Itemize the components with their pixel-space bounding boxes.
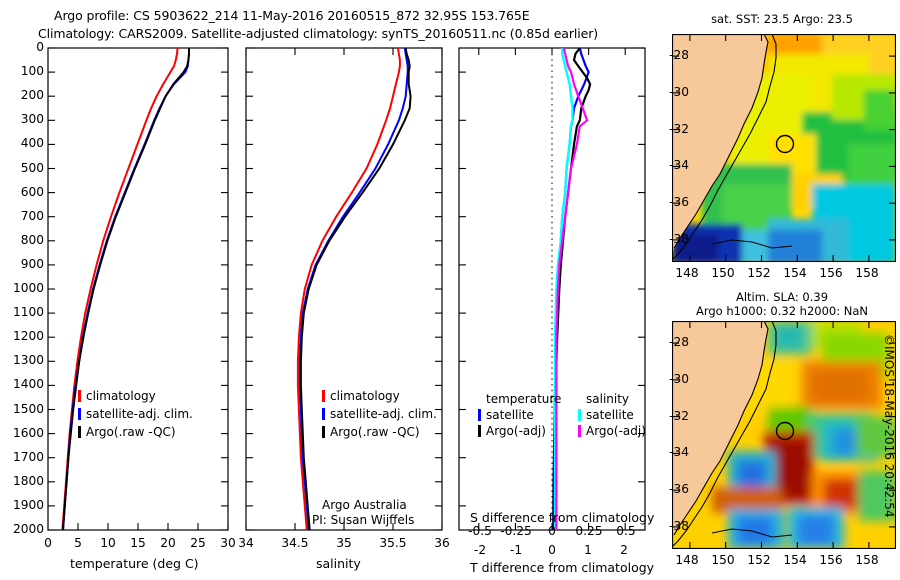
salinity-plot-frame <box>246 48 442 530</box>
depth-tick-800: 800 <box>8 233 44 247</box>
temperature-axis-label: temperature (deg C) <box>70 556 199 571</box>
legend-swatch-satellite-sal <box>322 408 325 420</box>
sla-ytick--36: -36 <box>659 482 689 496</box>
temp-xtick-5: 5 <box>72 536 84 550</box>
depth-tick-1000: 1000 <box>0 281 44 295</box>
sst-xtick-154: 154 <box>780 266 810 280</box>
sst-map-title: sat. SST: 23.5 Argo: 23.5 <box>668 12 896 26</box>
diff-s-xtick--0.25: -0.25 <box>494 524 538 538</box>
legend-label-climatology: climatology <box>86 389 156 403</box>
sst-xtick-148: 148 <box>672 266 702 280</box>
legend-item-climatology: climatology <box>78 389 193 403</box>
sal-xtick-36: 36 <box>430 536 454 550</box>
legend-label-t-satellite: satellite <box>486 408 534 422</box>
map-sla <box>672 321 896 549</box>
temp-xtick-10: 10 <box>98 536 118 550</box>
legend-item-argo: Argo(.raw -QC) <box>78 425 193 439</box>
temperature-plot-frame <box>48 48 228 530</box>
sst-ytick--32: -32 <box>659 122 689 136</box>
diff-s-xtick-0.5: 0.5 <box>608 524 644 538</box>
sal-xtick-35.5: 35.5 <box>374 536 412 550</box>
legend-item-s-argo: Argo(-adj) <box>578 424 646 438</box>
argo-pi-credit: PI: Susan Wijffels <box>312 513 414 527</box>
legend-label-argo: Argo(.raw -QC) <box>86 425 176 439</box>
sla-ytick--34: -34 <box>659 445 689 459</box>
sla-xtick-152: 152 <box>744 553 774 567</box>
legend-label-climatology-sal: climatology <box>330 389 400 403</box>
legend-item-t-satellite: satellite <box>478 408 561 422</box>
sla-ytick--38: -38 <box>659 519 689 533</box>
depth-tick-300: 300 <box>8 112 44 126</box>
depth-tick-200: 200 <box>8 88 44 102</box>
diff-t-xtick--1: -1 <box>506 543 526 557</box>
sst-ytick--28: -28 <box>659 48 689 62</box>
temp-xtick-15: 15 <box>128 536 148 550</box>
depth-tick-2000: 2000 <box>0 522 44 536</box>
depth-tick-1500: 1500 <box>0 402 44 416</box>
sla-ytick--30: -30 <box>659 372 689 386</box>
temp-xtick-0: 0 <box>42 536 54 550</box>
depth-tick-1300: 1300 <box>0 353 44 367</box>
sla-xtick-158: 158 <box>852 553 882 567</box>
legend-swatch-climatology-sal <box>322 390 325 402</box>
depth-tick-600: 600 <box>8 185 44 199</box>
diff-s-xtick-0.25: 0.25 <box>567 524 611 538</box>
diff-s-xtick-0: 0 <box>544 524 560 538</box>
sla-xtick-150: 150 <box>708 553 738 567</box>
legend-swatch-argo <box>78 426 81 438</box>
legend-item-satellite: satellite-adj. clim. <box>78 407 193 421</box>
diff-s-xtick--0.5: -0.5 <box>462 524 498 538</box>
sla-map-title-line2: Argo h1000: 0.32 h2000: NaN <box>668 304 896 318</box>
depth-tick-100: 100 <box>8 64 44 78</box>
legend-label-s-argo: Argo(-adj) <box>586 424 646 438</box>
legend-label-argo-sal: Argo(.raw -QC) <box>330 425 420 439</box>
depth-tick-500: 500 <box>8 161 44 175</box>
sla-ytick--32: -32 <box>659 409 689 423</box>
legend-header-temperature: temperature <box>486 392 561 406</box>
sla-xtick-156: 156 <box>816 553 846 567</box>
legend-swatch-s-argo <box>578 425 581 437</box>
temp-xtick-25: 25 <box>188 536 208 550</box>
figure-title-line2: Climatology: CARS2009. Satellite-adjuste… <box>38 26 598 41</box>
sal-xtick-34.5: 34.5 <box>276 536 314 550</box>
depth-tick-1200: 1200 <box>0 329 44 343</box>
depth-tick-1700: 1700 <box>0 450 44 464</box>
sst-xtick-156: 156 <box>816 266 846 280</box>
sst-xtick-150: 150 <box>708 266 738 280</box>
sst-ytick--36: -36 <box>659 195 689 209</box>
depth-tick-1100: 1100 <box>0 305 44 319</box>
legend-swatch-s-satellite <box>578 409 581 421</box>
diff-t-xtick-2: 2 <box>616 543 632 557</box>
diff-t-xtick--2: -2 <box>470 543 490 557</box>
diff-t-xtick-1: 1 <box>580 543 596 557</box>
depth-tick-1900: 1900 <box>0 498 44 512</box>
temperature-legend: climatology satellite-adj. clim. Argo(.r… <box>78 389 193 439</box>
sal-xtick-35: 35 <box>332 536 356 550</box>
sst-ytick--38: -38 <box>659 232 689 246</box>
salinity-axis-label: salinity <box>316 556 361 571</box>
sst-xtick-158: 158 <box>852 266 882 280</box>
depth-tick-900: 900 <box>8 257 44 271</box>
legend-swatch-t-satellite <box>478 409 481 421</box>
difference-temperature-axis-label: T difference from climatology <box>470 560 654 575</box>
panel-salinity <box>242 40 452 540</box>
salinity-legend: climatology satellite-adj. clim. Argo(.r… <box>322 389 437 439</box>
imos-copyright: ©IMOS 18-May-2016 20:42:54 <box>882 334 896 518</box>
difference-legend-salinity: salinity satellite Argo(-adj) <box>578 392 646 438</box>
depth-tick-1400: 1400 <box>0 377 44 391</box>
legend-item-satellite-sal: satellite-adj. clim. <box>322 407 437 421</box>
legend-swatch-climatology <box>78 390 81 402</box>
depth-tick-0: 0 <box>16 40 44 54</box>
sst-xtick-152: 152 <box>744 266 774 280</box>
difference-salinity-axis-label: S difference from climatology <box>470 510 654 525</box>
legend-label-satellite: satellite-adj. clim. <box>86 407 193 421</box>
legend-item-s-satellite: satellite <box>578 408 646 422</box>
legend-header-salinity: salinity <box>586 392 646 406</box>
sal-xtick-34: 34 <box>234 536 258 550</box>
depth-tick-1800: 1800 <box>0 474 44 488</box>
sla-xtick-154: 154 <box>780 553 810 567</box>
legend-swatch-t-argo <box>478 425 481 437</box>
legend-item-climatology-sal: climatology <box>322 389 437 403</box>
temp-xtick-20: 20 <box>158 536 178 550</box>
legend-item-argo-sal: Argo(.raw -QC) <box>322 425 437 439</box>
depth-tick-1600: 1600 <box>0 426 44 440</box>
legend-label-t-argo: Argo(-adj) <box>486 424 546 438</box>
sst-ytick--34: -34 <box>659 158 689 172</box>
sst-ytick--30: -30 <box>659 85 689 99</box>
legend-swatch-satellite <box>78 408 81 420</box>
map-sst <box>672 34 896 262</box>
panel-difference <box>455 40 655 540</box>
diff-t-xtick-0: 0 <box>544 543 560 557</box>
argo-australia-credit: Argo Australia <box>322 498 407 512</box>
sla-map-title-line1: Altim. SLA: 0.39 <box>668 290 896 304</box>
depth-tick-400: 400 <box>8 136 44 150</box>
legend-item-t-argo: Argo(-adj) <box>478 424 561 438</box>
figure-title-line1: Argo profile: CS 5903622_214 11-May-2016… <box>54 8 530 23</box>
legend-swatch-argo-sal <box>322 426 325 438</box>
legend-label-satellite-sal: satellite-adj. clim. <box>330 407 437 421</box>
sla-xtick-148: 148 <box>672 553 702 567</box>
legend-label-s-satellite: satellite <box>586 408 634 422</box>
difference-legend-temperature: temperature satellite Argo(-adj) <box>478 392 561 438</box>
sla-ytick--28: -28 <box>659 335 689 349</box>
depth-tick-700: 700 <box>8 209 44 223</box>
